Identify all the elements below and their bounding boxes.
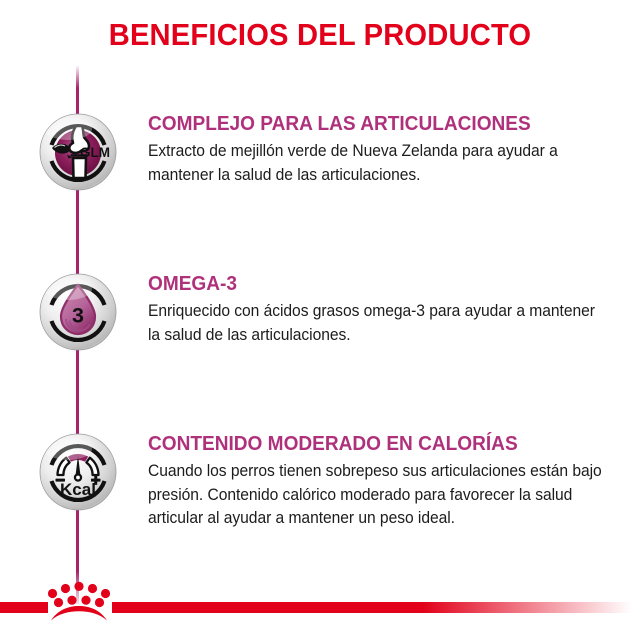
benefit-heading: OMEGA-3	[148, 272, 593, 295]
kcal-gauge-icon: Kcal	[38, 432, 118, 512]
benefit-heading: CONTENIDO MODERADO EN CALORÍAS	[148, 432, 593, 455]
product-benefits-page: BENEFICIOS DEL PRODUCTO	[0, 0, 640, 640]
icon-glm-label: GLM	[80, 145, 110, 160]
benefit-body: Cuando los perros tienen sobrepeso sus a…	[148, 460, 609, 531]
benefit-body: Enriquecido con ácidos grasos omega-3 pa…	[148, 300, 609, 347]
joint-complex-glm-icon: GLM	[38, 112, 118, 192]
page-title: BENEFICIOS DEL PRODUCTO	[19, 17, 621, 53]
royal-canin-crown-logo	[44, 581, 114, 625]
footer-bar-left-segment	[0, 602, 48, 613]
benefit-text-block: OMEGA-3 Enriquecido con ácidos grasos om…	[148, 272, 626, 347]
benefit-text-block: CONTENIDO MODERADO EN CALORÍAS Cuando lo…	[148, 432, 626, 531]
benefit-text-block: COMPLEJO PARA LAS ARTICULACIONES Extract…	[148, 112, 626, 187]
benefit-body: Extracto de mejillón verde de Nueva Zela…	[148, 140, 609, 187]
footer-bar-right-segment	[112, 602, 640, 613]
benefit-heading: COMPLEJO PARA LAS ARTICULACIONES	[148, 112, 593, 135]
icon-omega3-number: 3	[72, 304, 84, 328]
omega-3-droplet-icon: 3	[38, 272, 118, 352]
icon-kcal-label: Kcal	[60, 480, 96, 499]
